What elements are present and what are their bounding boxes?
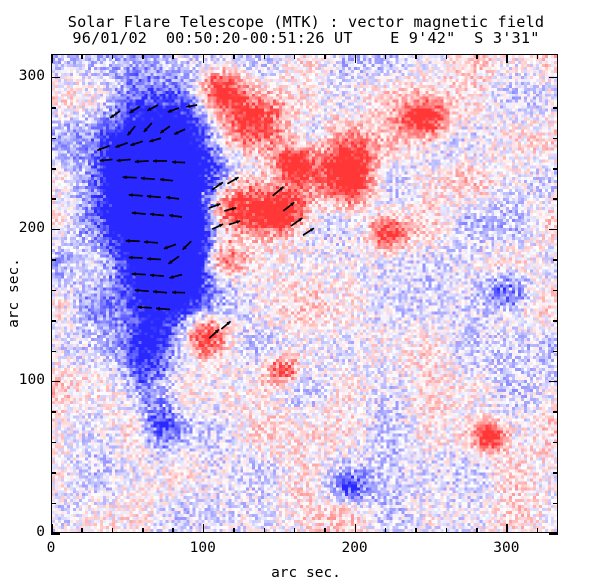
x-minor-tick-top bbox=[415, 54, 417, 59]
y-minor-tick bbox=[51, 442, 56, 444]
x-tick-label: 200 bbox=[325, 540, 385, 556]
y-minor-tick-right bbox=[553, 107, 558, 109]
x-minor-tick-top bbox=[385, 54, 387, 59]
x-major-tick bbox=[506, 524, 508, 533]
x-minor-tick bbox=[385, 528, 387, 533]
x-axis-title: arc sec. bbox=[0, 565, 612, 581]
y-major-tick-right bbox=[549, 381, 558, 383]
x-minor-tick-top bbox=[294, 54, 296, 59]
chart-subtitle: 96/01/02 00:50:20-00:51:26 UT E 9'42" S … bbox=[0, 30, 612, 46]
y-minor-tick bbox=[51, 138, 56, 140]
chart-title-block: Solar Flare Telescope (MTK) : vector mag… bbox=[0, 14, 612, 47]
y-minor-tick bbox=[51, 503, 56, 505]
y-minor-tick bbox=[51, 472, 56, 474]
y-minor-tick bbox=[51, 290, 56, 292]
x-minor-tick bbox=[264, 528, 266, 533]
y-major-tick bbox=[51, 381, 60, 383]
x-minor-tick-top bbox=[264, 54, 266, 59]
x-minor-tick-top bbox=[142, 54, 144, 59]
y-tick-label: 100 bbox=[0, 372, 45, 388]
y-minor-tick-right bbox=[553, 351, 558, 353]
y-tick-label: 200 bbox=[0, 220, 45, 236]
y-minor-tick-right bbox=[553, 198, 558, 200]
y-minor-tick-right bbox=[553, 503, 558, 505]
y-minor-tick bbox=[51, 259, 56, 261]
y-major-tick bbox=[51, 77, 60, 79]
x-tick-label: 300 bbox=[476, 540, 536, 556]
y-minor-tick-right bbox=[553, 320, 558, 322]
x-minor-tick bbox=[324, 528, 326, 533]
y-minor-tick bbox=[51, 351, 56, 353]
y-minor-tick bbox=[51, 107, 56, 109]
x-minor-tick bbox=[294, 528, 296, 533]
x-major-tick-top bbox=[51, 54, 53, 63]
x-major-tick-top bbox=[203, 54, 205, 63]
magnetogram-image bbox=[52, 55, 557, 532]
x-major-tick bbox=[355, 524, 357, 533]
x-minor-tick-top bbox=[81, 54, 83, 59]
x-minor-tick-top bbox=[446, 54, 448, 59]
magnetogram-canvas bbox=[52, 55, 557, 532]
x-minor-tick bbox=[112, 528, 114, 533]
y-minor-tick bbox=[51, 168, 56, 170]
x-minor-tick bbox=[476, 528, 478, 533]
y-axis-title: arc sec. bbox=[6, 243, 22, 343]
x-minor-tick-top bbox=[233, 54, 235, 59]
y-minor-tick-right bbox=[553, 472, 558, 474]
y-minor-tick-right bbox=[553, 138, 558, 140]
y-minor-tick-right bbox=[553, 411, 558, 413]
y-minor-tick bbox=[51, 320, 56, 322]
x-minor-tick-top bbox=[172, 54, 174, 59]
y-major-tick-right bbox=[549, 77, 558, 79]
x-minor-tick-top bbox=[537, 54, 539, 59]
y-minor-tick-right bbox=[553, 290, 558, 292]
x-minor-tick-top bbox=[324, 54, 326, 59]
x-minor-tick bbox=[172, 528, 174, 533]
y-minor-tick-right bbox=[553, 168, 558, 170]
y-major-tick bbox=[51, 229, 60, 231]
y-major-tick-right bbox=[549, 533, 558, 535]
x-minor-tick bbox=[415, 528, 417, 533]
x-minor-tick-top bbox=[476, 54, 478, 59]
x-major-tick bbox=[51, 524, 53, 533]
magnetogram-plot-frame bbox=[51, 54, 558, 533]
x-minor-tick bbox=[81, 528, 83, 533]
x-major-tick-top bbox=[506, 54, 508, 63]
y-minor-tick-right bbox=[553, 259, 558, 261]
x-tick-label: 100 bbox=[173, 540, 233, 556]
x-minor-tick bbox=[537, 528, 539, 533]
y-major-tick-right bbox=[549, 229, 558, 231]
y-tick-label: 0 bbox=[0, 524, 45, 540]
y-tick-label: 300 bbox=[0, 68, 45, 84]
x-minor-tick bbox=[142, 528, 144, 533]
chart-title: Solar Flare Telescope (MTK) : vector mag… bbox=[0, 14, 612, 30]
y-minor-tick-right bbox=[553, 442, 558, 444]
x-major-tick bbox=[203, 524, 205, 533]
y-minor-tick bbox=[51, 198, 56, 200]
y-minor-tick bbox=[51, 411, 56, 413]
x-minor-tick-top bbox=[112, 54, 114, 59]
x-tick-label: 0 bbox=[21, 540, 81, 556]
x-major-tick-top bbox=[355, 54, 357, 63]
y-major-tick bbox=[51, 533, 60, 535]
x-minor-tick bbox=[446, 528, 448, 533]
x-minor-tick bbox=[233, 528, 235, 533]
